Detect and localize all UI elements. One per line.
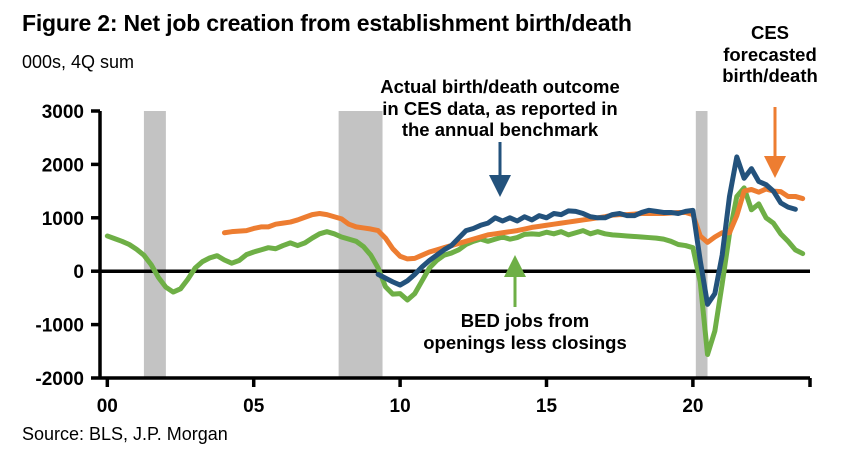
arrow-bed-head bbox=[504, 255, 526, 277]
y-tick-label: 0 bbox=[73, 262, 84, 283]
x-tick-label: 05 bbox=[243, 396, 265, 417]
x-tick-label: 20 bbox=[682, 396, 703, 417]
source-note: Source: BLS, J.P. Morgan bbox=[22, 424, 228, 445]
annotation-bed: BED jobs from openings less closings bbox=[400, 310, 650, 353]
y-tick-label: 3000 bbox=[42, 102, 84, 123]
data-series-line bbox=[224, 189, 802, 259]
y-tick-label: -1000 bbox=[35, 316, 84, 337]
x-tick-label: 15 bbox=[536, 396, 558, 417]
arrow-ces-actual-head bbox=[489, 175, 511, 197]
annotation-ces-forecast: CES forecasted birth/death bbox=[700, 22, 840, 87]
y-tick-label: -2000 bbox=[35, 369, 84, 390]
x-tick-label: 00 bbox=[97, 396, 118, 417]
figure-container: Figure 2: Net job creation from establis… bbox=[0, 0, 852, 459]
arrow-ces-forecast-head bbox=[764, 156, 786, 178]
x-tick-label: 10 bbox=[390, 396, 411, 417]
recession-band bbox=[144, 111, 166, 378]
annotation-ces-actual: Actual birth/death outcome in CES data, … bbox=[355, 76, 645, 141]
y-tick-label: 1000 bbox=[42, 209, 84, 230]
y-tick-label: 2000 bbox=[42, 155, 84, 176]
